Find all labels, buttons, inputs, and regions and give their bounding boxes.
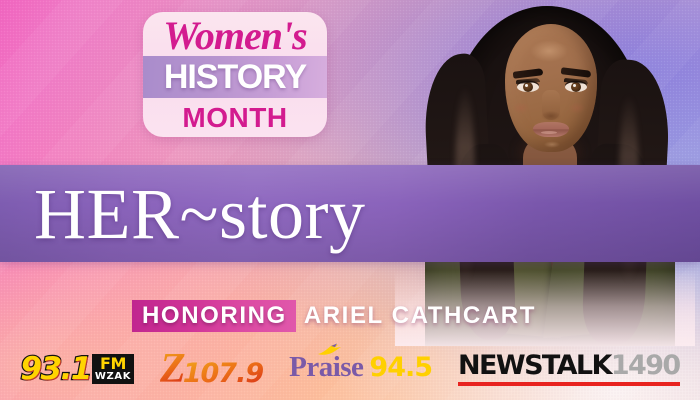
- wzak-band: FM: [100, 356, 126, 371]
- praise-frequency: 94.5: [369, 353, 432, 383]
- logo-line-womens: Women's: [143, 14, 327, 58]
- station-logo-strip: 93.1 FM WZAK Z 107.9 Praise 94.5 NEWSTAL…: [0, 348, 700, 390]
- honoree-name: ARIEL CATHCART: [296, 300, 536, 332]
- z1079-frequency: 107.9: [183, 359, 263, 389]
- newstalk-word: NEWSTALK: [458, 352, 611, 379]
- station-logo-praise[interactable]: Praise 94.5: [289, 352, 432, 386]
- nose-shadow: [537, 110, 565, 122]
- promo-graphic: HER~story Women's HISTORY MONTH HONORING…: [0, 0, 700, 400]
- iris-left: [523, 82, 533, 92]
- honoring-row: HONORING ARIEL CATHCART: [132, 300, 536, 332]
- newstalk-row: NEWSTALK 1490: [458, 352, 680, 379]
- wzak-frequency: 93.1: [20, 354, 91, 385]
- wzak-badge: FM WZAK: [92, 354, 134, 384]
- newstalk-red-bar: [458, 382, 680, 386]
- wzak-callsign: WZAK: [95, 371, 131, 382]
- cheek-right: [565, 100, 589, 116]
- womens-history-month-logo: Women's HISTORY MONTH: [143, 12, 327, 137]
- station-logo-wzak[interactable]: 93.1 FM WZAK: [20, 352, 134, 386]
- lips: [533, 122, 569, 137]
- herstory-title: HER~story: [34, 164, 454, 264]
- chin-highlight: [541, 140, 563, 149]
- cheek-left: [509, 100, 533, 116]
- forehead-highlight: [523, 36, 575, 66]
- dove-icon: [317, 343, 343, 357]
- newstalk-frequency: 1490: [611, 352, 680, 379]
- iris-right: [571, 82, 581, 92]
- logo-line-history: HISTORY: [143, 57, 327, 98]
- logo-line-month: MONTH: [143, 102, 327, 134]
- station-logo-newstalk[interactable]: NEWSTALK 1490: [458, 352, 680, 386]
- station-logo-z1079[interactable]: Z 107.9: [160, 352, 263, 386]
- honoring-label: HONORING: [132, 300, 296, 332]
